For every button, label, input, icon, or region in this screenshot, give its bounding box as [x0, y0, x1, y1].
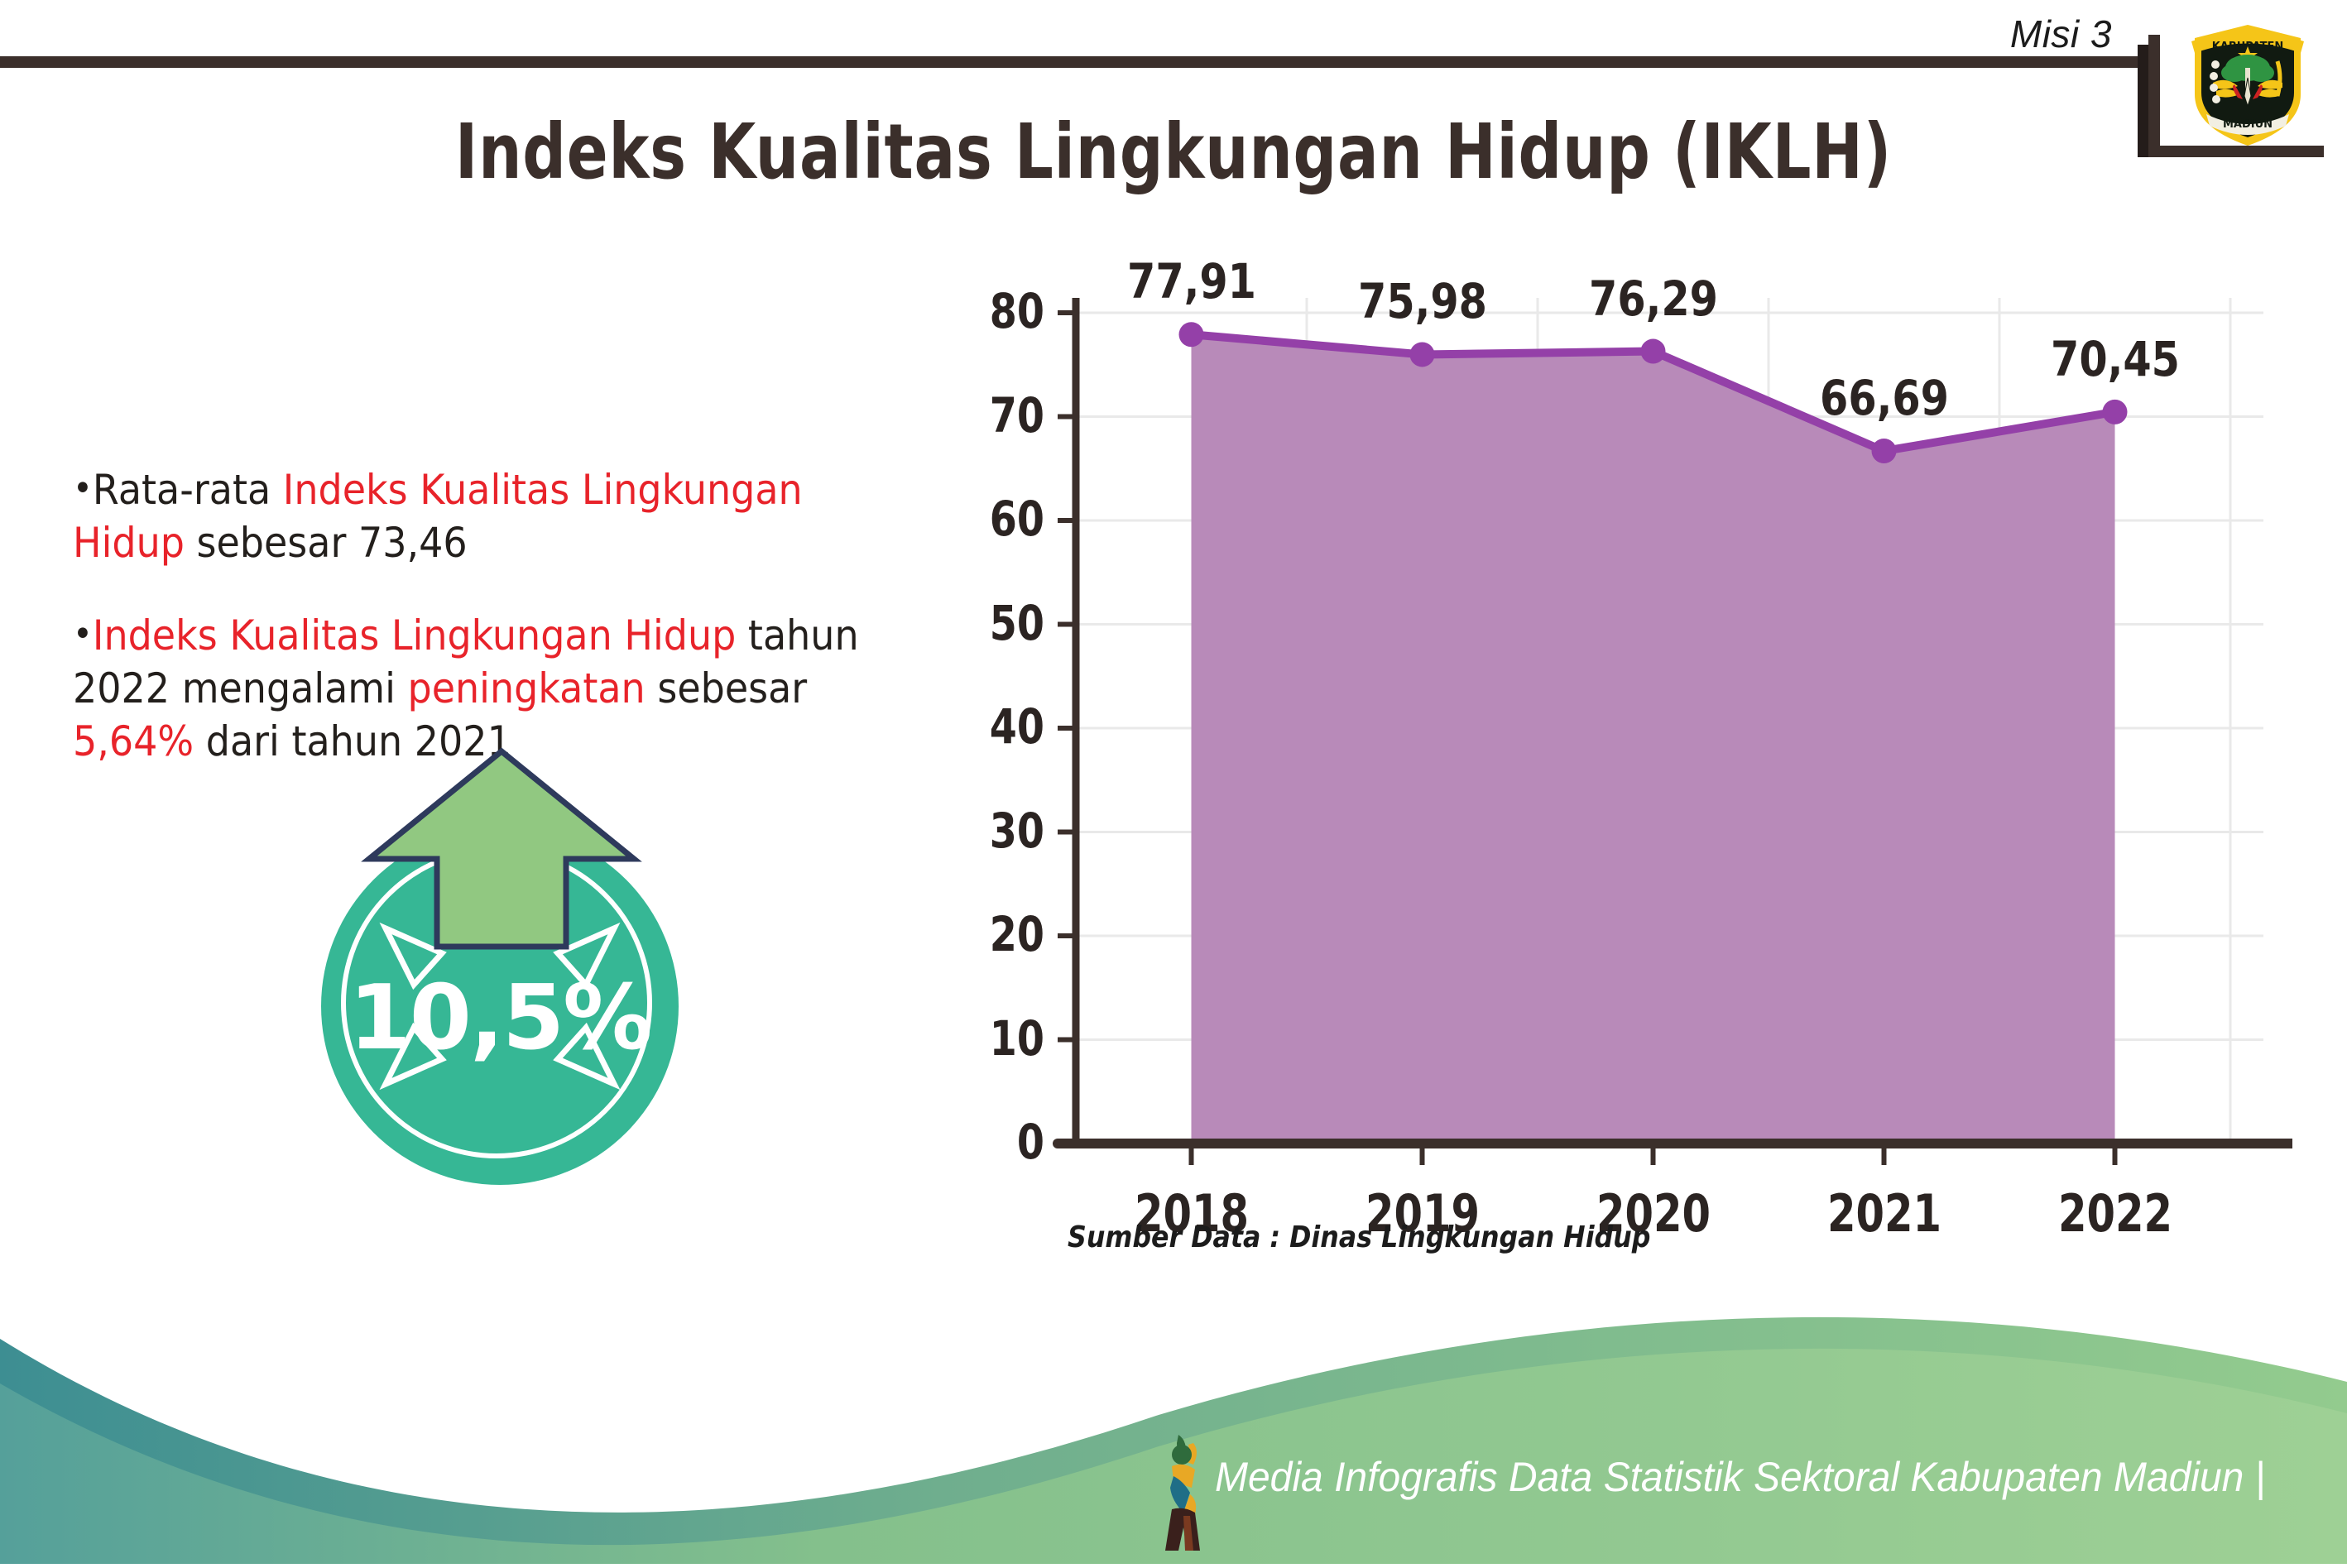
page-title: Indeks Kualitas Lingkungan Hidup (IKLH)	[235, 108, 2113, 196]
list-item: •Rata-rata Indeks Kualitas Lingkungan Hi…	[73, 463, 880, 569]
data-point-label: 76,29	[1569, 271, 1738, 327]
bullet-plain: sebesar 73,46	[185, 519, 468, 567]
y-axis-tick-label: 0	[982, 1114, 1044, 1170]
chart-source-note: Sumber Data : Dinas Lingkungan Hidup	[1068, 1220, 1650, 1254]
y-axis-tick-label: 80	[982, 283, 1044, 339]
header-rule	[0, 56, 2148, 68]
y-axis-tick-label: 60	[982, 491, 1044, 547]
bullet-text-0: Rata-rata Indeks Kualitas Lingkungan Hid…	[73, 466, 803, 567]
iklh-area-chart: 010203040506070802018201920202021202277,…	[968, 298, 2292, 1208]
y-axis-tick-label: 50	[982, 595, 1044, 651]
logo-bracket-shadow	[2138, 45, 2148, 157]
madiun-regency-seal-icon: KABUPATEN MADIUN	[2185, 13, 2311, 151]
misi-label: Misi 3	[2010, 12, 2112, 56]
chart-canvas	[968, 298, 2292, 1208]
bullet-dot-icon: •	[73, 613, 93, 655]
y-axis-tick-label: 10	[982, 1010, 1044, 1067]
increase-badge: 10,5%	[305, 745, 768, 1208]
bullet-plain: Rata-rata	[93, 466, 283, 514]
data-point-label: 66,69	[1800, 370, 1969, 426]
footer-caption: Media Infografis Data Statistik Sektoral…	[1215, 1453, 2265, 1501]
x-axis-tick-label: 2021	[1798, 1183, 1970, 1244]
arrow-up-icon	[361, 745, 642, 960]
bullet-highlight: 5,64%	[73, 717, 194, 765]
y-axis-tick-label: 40	[982, 698, 1044, 755]
svg-text:MADIUN: MADIUN	[2223, 118, 2273, 131]
y-axis-tick-label: 30	[982, 803, 1044, 859]
data-point-label: 70,45	[2031, 331, 2200, 387]
badge-percent-label: 10,5%	[321, 966, 679, 1070]
y-axis-tick-label: 20	[982, 906, 1044, 962]
data-point-label: 75,98	[1338, 273, 1507, 329]
bullet-plain: sebesar	[646, 664, 807, 712]
data-point-label: 77,91	[1107, 253, 1276, 309]
bullet-text-1: Indeks Kualitas Lingkungan Hidup tahun 2…	[73, 611, 859, 765]
logo-bracket-vertical	[2148, 35, 2160, 157]
x-axis-tick-label: 2022	[2029, 1183, 2201, 1244]
bullet-highlight: Indeks Kualitas Lingkungan Hidup	[93, 611, 736, 659]
y-axis-tick-label: 70	[982, 387, 1044, 444]
bullet-highlight: peningkatan	[408, 664, 646, 712]
bullet-dot-icon: •	[73, 468, 93, 510]
